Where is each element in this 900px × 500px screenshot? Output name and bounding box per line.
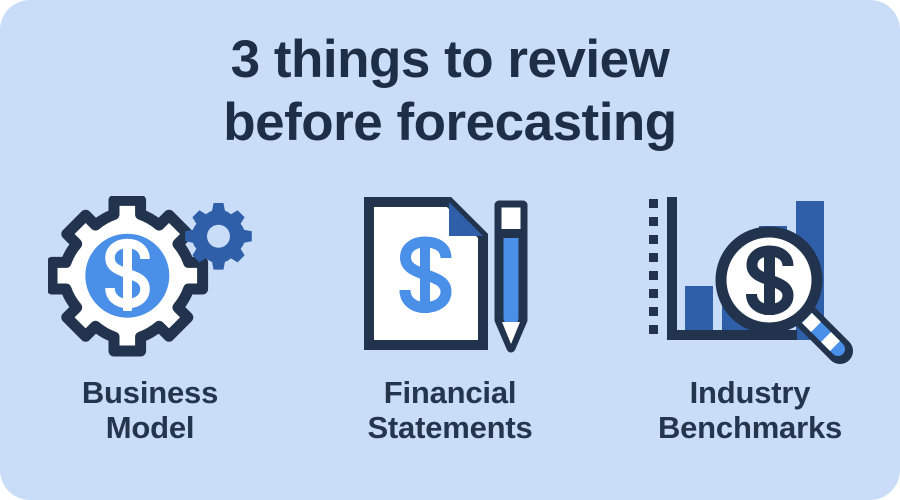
item-caption-business-model: Business Model xyxy=(82,375,218,446)
document-pencil-svg xyxy=(363,196,538,361)
item-financial-statements: Financial Statements xyxy=(300,196,600,446)
page-title: 3 things to review before forecasting xyxy=(0,28,900,154)
bar-chart-magnifier-svg xyxy=(645,191,855,366)
item-caption-financial-statements: Financial Statements xyxy=(367,375,532,446)
caption-line-2: Model xyxy=(82,410,218,445)
items-row: Business Model xyxy=(0,196,900,446)
title-line-2: before forecasting xyxy=(0,91,900,154)
pencil-ferrule xyxy=(499,229,523,238)
title-line-1: 3 things to review xyxy=(0,28,900,91)
gear-dollar-svg xyxy=(48,196,253,361)
item-industry-benchmarks: Industry Benchmarks xyxy=(600,196,900,446)
bar-chart-magnifier-dollar-icon xyxy=(645,196,855,361)
caption-line-2: Benchmarks xyxy=(658,410,842,445)
dashed-axis-ticks xyxy=(649,199,658,334)
dollar-sign-navy xyxy=(752,246,789,315)
caption-line-1: Business xyxy=(82,375,218,410)
item-caption-industry-benchmarks: Industry Benchmarks xyxy=(658,375,842,446)
pencil-eraser xyxy=(501,208,520,230)
folded-corner xyxy=(449,202,483,236)
infographic-card: 3 things to review before forecasting xyxy=(0,0,900,500)
caption-line-1: Industry xyxy=(658,375,842,410)
caption-line-1: Financial xyxy=(367,375,532,410)
gear-dollar-icon xyxy=(45,196,255,361)
document-dollar-pencil-icon xyxy=(345,196,555,361)
pencil xyxy=(499,205,523,348)
caption-line-2: Statements xyxy=(367,410,532,445)
item-business-model: Business Model xyxy=(0,196,300,446)
